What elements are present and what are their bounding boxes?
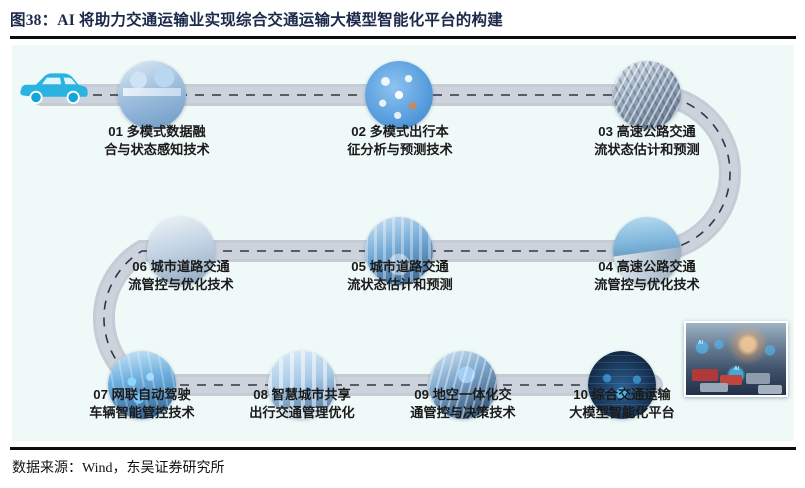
node-07-label: 07 网联自动驾驶 车辆智能管控技术 <box>56 386 228 422</box>
node-04-label: 04 高速公路交通 流管控与优化技术 <box>561 258 733 294</box>
node-01-image <box>118 61 186 129</box>
figure-title: 图38：AI 将助力交通运输业实现综合交通运输大模型智能化平台的构建 <box>10 8 795 30</box>
node-06-label: 06 城市道路交通 流管控与优化技术 <box>95 258 267 294</box>
node-08-label: 08 智慧城市共享 出行交通管理优化 <box>216 386 388 422</box>
node-03-image <box>613 61 681 129</box>
title-divider-top <box>10 36 796 39</box>
ai-platform-photo: AI AI <box>684 321 788 397</box>
vehicle-shape <box>700 383 728 392</box>
figure-source: 数据来源：Wind，东吴证券研究所 <box>12 457 225 477</box>
vehicle-shape <box>692 369 718 381</box>
ai-badge-icon: AI <box>698 341 703 346</box>
ai-badge-icon: AI <box>734 367 739 372</box>
title-divider-bottom <box>10 447 796 450</box>
figure-container: 图38：AI 将助力交通运输业实现综合交通运输大模型智能化平台的构建 <box>0 0 805 488</box>
node-05-label: 05 城市道路交通 流状态估计和预测 <box>314 258 486 294</box>
vehicle-shape <box>746 373 770 384</box>
vehicle-shape <box>758 385 782 394</box>
node-01-label: 01 多模式数据融 合与状态感知技术 <box>72 123 242 159</box>
node-02-image <box>365 61 433 129</box>
node-02-label: 02 多模式出行本 征分析与预测技术 <box>314 123 486 159</box>
node-09-label: 09 地空一体化交 通管控与决策技术 <box>377 386 549 422</box>
diagram-canvas: 01 多模式数据融 合与状态感知技术 02 多模式出行本 征分析与预测技术 03… <box>12 45 794 441</box>
node-10-label: 10 综合交通运输 大模型智能化平台 <box>536 386 708 422</box>
car-icon <box>18 67 90 111</box>
node-03-label: 03 高速公路交通 流状态估计和预测 <box>561 123 733 159</box>
